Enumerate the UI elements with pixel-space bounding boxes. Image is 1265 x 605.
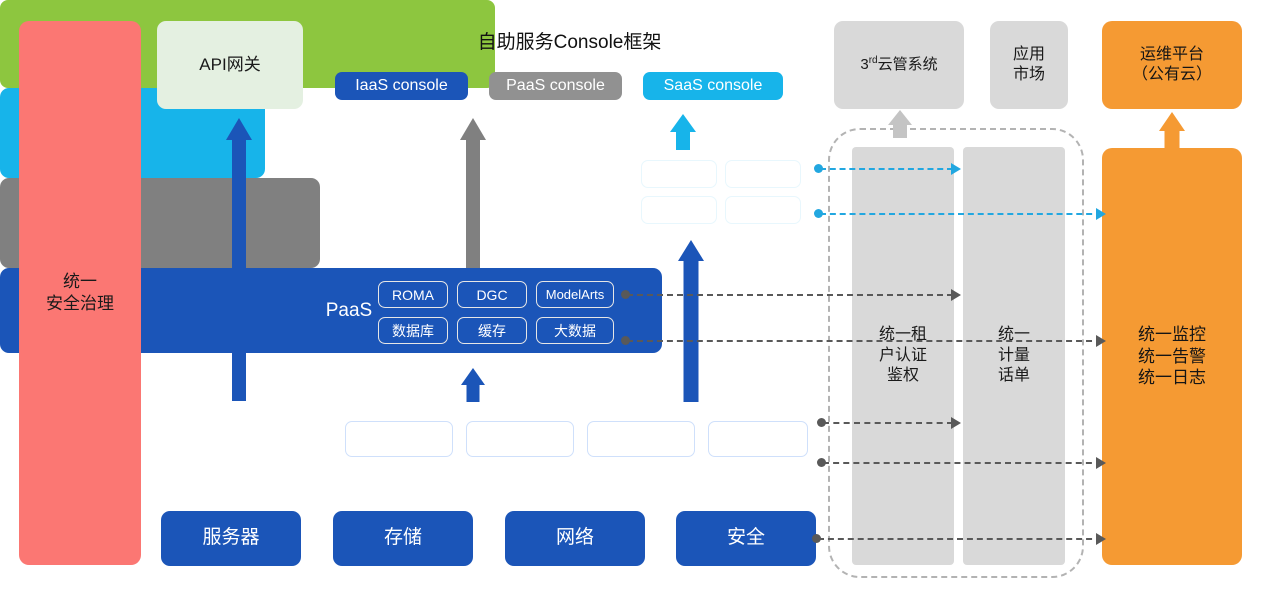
connector-paas-to-ops xyxy=(627,340,1102,342)
arrow-saas-to-console xyxy=(666,114,700,150)
architecture-diagram: 统一 安全治理 API网关 自助服务Console框架 IaaS console… xyxy=(0,0,1265,605)
api-gateway-label: API网关 xyxy=(199,54,260,76)
paas-item-dgc[interactable]: DGC xyxy=(457,281,527,308)
unified-metering-billing-column: 统一 计量 话单 xyxy=(963,147,1065,565)
paas-item-cache[interactable]: 缓存 xyxy=(457,317,527,344)
paas-layer-label: PaaS xyxy=(313,300,385,322)
api-gateway-box: API网关 xyxy=(157,21,303,109)
paas-item-roma[interactable]: ROMA xyxy=(378,281,448,308)
connector-arrowhead-paas-to-metering xyxy=(951,289,961,301)
arrow-shared-to-third-cloud xyxy=(884,110,916,138)
infra-item-network[interactable]: Network xyxy=(587,421,695,457)
paas-item-bigdata[interactable]: 大数据 xyxy=(536,317,614,344)
connector-hardware-to-ops xyxy=(818,538,1102,540)
third-party-cloud-management-label: 3rd云管系统 xyxy=(860,55,937,74)
unified-monitoring-label: 统一监控 统一告警 统一日志 xyxy=(1138,324,1206,389)
connector-arrowhead-saas-to-metering xyxy=(951,163,961,175)
connector-saas-to-ops xyxy=(820,213,1102,215)
arrow-paas-to-console xyxy=(456,118,490,268)
saas-item-iot[interactable]: IoT xyxy=(725,160,801,188)
arrow-infra-to-api-gateway xyxy=(222,118,256,401)
infra-item-cce[interactable]: CCE xyxy=(708,421,808,457)
paas-item-modelarts[interactable]: ModelArts xyxy=(536,281,614,308)
hardware-box-server: 服务器 xyxy=(161,511,301,566)
unified-infrastructure-services-label: 统一基础设施服务 xyxy=(172,428,342,454)
unified-tenant-auth-column: 统一租 户认证 鉴权 xyxy=(852,147,954,565)
infra-item-compute[interactable]: Compute xyxy=(345,421,453,457)
third-party-cloud-management-box: 3rd云管系统 xyxy=(834,21,964,109)
connector-arrowhead-saas-to-ops xyxy=(1096,208,1106,220)
connector-paas-to-metering xyxy=(627,294,953,296)
saas-console-chip[interactable]: SaaS console xyxy=(643,72,783,100)
saas-item-desktop-cloud[interactable]: 桌面云 xyxy=(725,196,801,224)
self-service-console-framework-title: 自助服务Console框架 xyxy=(322,27,817,54)
hardware-box-security: 安全 xyxy=(676,511,816,566)
ops-platform-public-cloud-box: 运维平台 （公有云） xyxy=(1102,21,1242,109)
saas-layer-label: SaaS xyxy=(563,178,643,200)
paas-console-chip[interactable]: PaaS console xyxy=(489,72,622,100)
iaas-console-chip[interactable]: IaaS console xyxy=(335,72,468,100)
connector-arrowhead-paas-to-ops xyxy=(1096,335,1106,347)
connector-infra-to-ops xyxy=(823,462,1102,464)
connector-arrowhead-infra-to-metering xyxy=(951,417,961,429)
connector-arrowhead-infra-to-ops xyxy=(1096,457,1106,469)
app-market-label: 应用 市场 xyxy=(1013,45,1045,86)
arrow-infra-to-paas xyxy=(458,368,488,402)
connector-infra-to-metering xyxy=(823,422,953,424)
hardware-box-storage: 存储 xyxy=(333,511,473,566)
unified-monitoring-column: 统一监控 统一告警 统一日志 xyxy=(1102,148,1242,565)
unified-metering-billing-label: 统一 计量 话单 xyxy=(998,325,1030,386)
infra-item-storage[interactable]: Storage xyxy=(466,421,574,457)
ops-platform-public-cloud-label: 运维平台 （公有云） xyxy=(1132,45,1212,86)
saas-item-blockchain[interactable]: 区块链 xyxy=(641,160,717,188)
hardware-box-network: 网络 xyxy=(505,511,645,566)
unified-security-governance-label: 统一 安全治理 xyxy=(46,271,114,315)
connector-saas-to-metering xyxy=(820,168,953,170)
unified-tenant-auth-label: 统一租 户认证 鉴权 xyxy=(879,325,927,386)
ordinal-superscript: rd xyxy=(869,55,878,66)
arrow-infra-to-saas xyxy=(674,240,708,402)
app-market-box: 应用 市场 xyxy=(990,21,1068,109)
arrow-ops-column-to-ops-platform xyxy=(1155,112,1189,150)
paas-item-database[interactable]: 数据库 xyxy=(378,317,448,344)
saas-item-video-cloud[interactable]: 视频云 xyxy=(641,196,717,224)
unified-security-governance-column: 统一 安全治理 xyxy=(19,21,141,565)
connector-arrowhead-hardware-to-ops xyxy=(1096,533,1106,545)
